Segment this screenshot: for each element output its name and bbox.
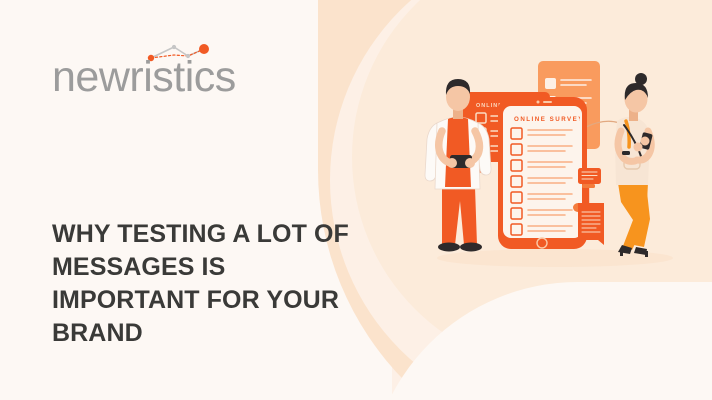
brand-logo[interactable]: newristics xyxy=(52,42,282,102)
brand-logo-text: newristics xyxy=(52,56,236,99)
page-title: WHY TESTING A LOT OF MESSAGES IS IMPORTA… xyxy=(52,218,352,350)
slide-canvas: newristics WHY TESTING A LOT OF MESSAGES… xyxy=(0,0,712,400)
online-survey-illustration: ONLINE SURVEY xyxy=(410,55,700,300)
smartphone-survey-screen: ONLINE SURVEY xyxy=(498,97,587,249)
person-right-woman xyxy=(615,73,653,257)
svg-text:ONLINE SURVEY: ONLINE SURVEY xyxy=(514,116,584,123)
